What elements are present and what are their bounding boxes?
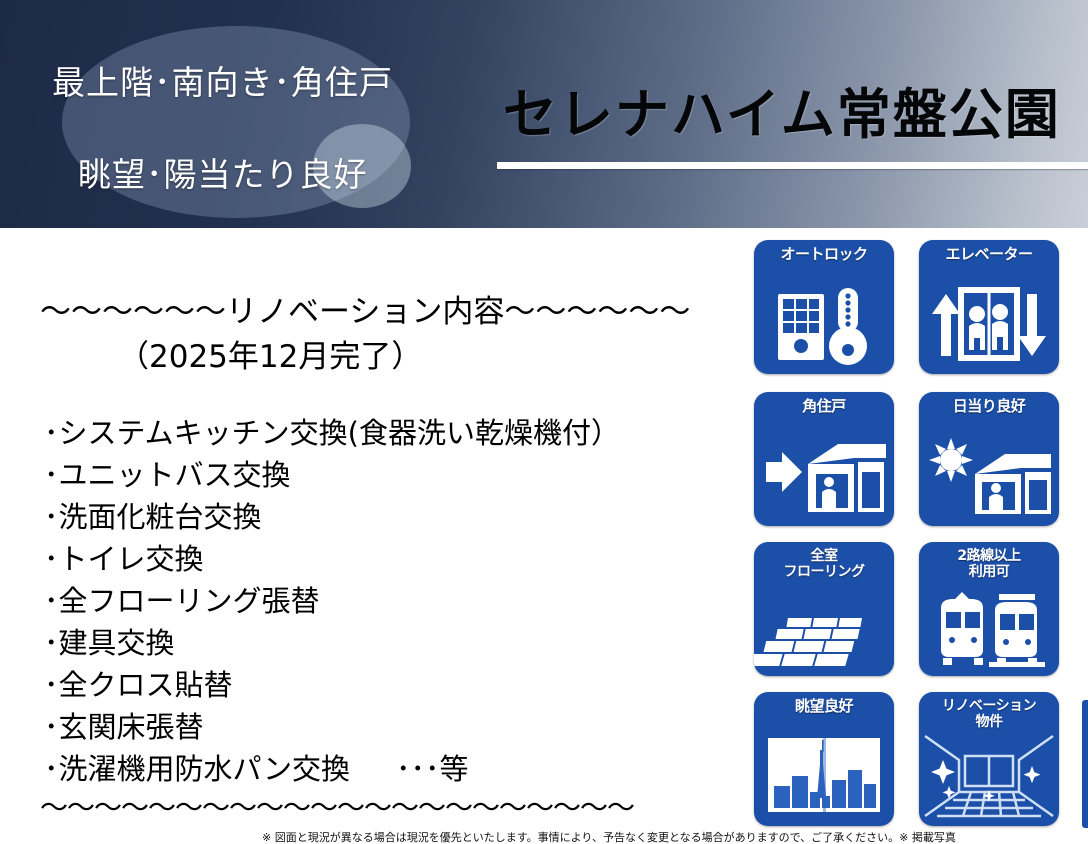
feature-badge-elevator[interactable]: エレベーター — [919, 240, 1059, 374]
header-highlight-line-2: 眺望･陽当たり良好 — [78, 148, 368, 196]
feature-badge-caption: 日当り良好 — [919, 398, 1059, 415]
header-banner: 最上階･南向き･角住戸 眺望･陽当たり良好 セレナハイム常盤公園 — [0, 0, 1088, 228]
feature-badge-caption: 眺望良好 — [754, 698, 894, 715]
feature-badge-good-view[interactable]: 眺望良好 — [754, 692, 894, 826]
right-edge-clipped-badge — [1082, 700, 1088, 828]
feature-badge-all-flooring[interactable]: 全室 フローリング — [754, 542, 894, 676]
elevator-icon — [919, 282, 1059, 368]
renovation-heading: ～～～～～～リノベーション内容～～～～～～ — [40, 286, 690, 331]
feature-badge-caption-line2: 利用可 — [919, 564, 1059, 580]
feature-badge-good-sunlight[interactable]: 日当り良好 — [919, 392, 1059, 526]
feature-badge-auto-lock[interactable]: オートロック — [754, 240, 894, 374]
header-highlight-line-1: 最上階･南向き･角住戸 — [52, 56, 393, 104]
feature-badge-corner-unit[interactable]: 角住戸 — [754, 392, 894, 526]
list-item: ･システムキッチン交換(食器洗い乾燥機付） — [44, 412, 744, 454]
skyline-icon — [754, 734, 894, 820]
renovation-item-list: ･システムキッチン交換(食器洗い乾燥機付） ･ユニットバス交換 ･洗面化粧台交換… — [44, 412, 744, 790]
renovation-footer-wave: ～～～～～～～～～～～～～～～～～～～～～～ — [40, 786, 634, 826]
list-item: ･玄関床張替 — [44, 706, 744, 748]
flyer-page: 最上階･南向き･角住戸 眺望･陽当たり良好 セレナハイム常盤公園 ～～～～～～リ… — [0, 0, 1088, 844]
list-item: ･洗面化粧台交換 — [44, 496, 744, 538]
feature-badge-caption: エレベーター — [919, 246, 1059, 263]
auto-lock-icon — [754, 282, 894, 368]
feature-badge-caption-line1: リノベーション — [919, 698, 1059, 714]
feature-badge-caption: オートロック — [754, 246, 894, 263]
list-item: ･トイレ交換 — [44, 538, 744, 580]
list-item: ･ユニットバス交換 — [44, 454, 744, 496]
feature-badge-caption-line2: 物件 — [919, 714, 1059, 730]
feature-badge-caption: 全室 フローリング — [754, 548, 894, 580]
feature-badge-caption-line1: 全室 — [754, 548, 894, 564]
title-underline — [497, 162, 1088, 169]
renovation-completion-date: （2025年12月完了） — [118, 331, 422, 376]
corner-unit-icon — [754, 434, 894, 520]
list-item-last-label: ･洗濯機用防水パン交換 — [44, 752, 350, 786]
list-item-last: ･洗濯機用防水パン交換･･･等 — [44, 748, 744, 790]
list-item: ･全クロス貼替 — [44, 664, 744, 706]
list-item: ･建具交換 — [44, 622, 744, 664]
list-item: ･全フローリング張替 — [44, 580, 744, 622]
list-item-etc: ･･･等 — [396, 752, 469, 786]
feature-badge-caption: 2路線以上 利用可 — [919, 548, 1059, 580]
renovated-room-icon — [919, 734, 1059, 820]
sun-house-icon — [919, 434, 1059, 520]
property-title: セレナハイム常盤公園 — [503, 70, 1061, 149]
feature-badge-renovated[interactable]: リノベーション 物件 — [919, 692, 1059, 826]
feature-badge-two-lines[interactable]: 2路線以上 利用可 — [919, 542, 1059, 676]
feature-badge-caption: 角住戸 — [754, 398, 894, 415]
feature-badge-caption-line2: フローリング — [754, 564, 894, 580]
feature-badge-caption: リノベーション 物件 — [919, 698, 1059, 730]
feature-badge-grid: オートロック — [750, 240, 1088, 844]
feature-badge-caption-line1: 2路線以上 — [919, 548, 1059, 564]
train-icon — [919, 592, 1059, 670]
flooring-icon — [754, 592, 894, 670]
